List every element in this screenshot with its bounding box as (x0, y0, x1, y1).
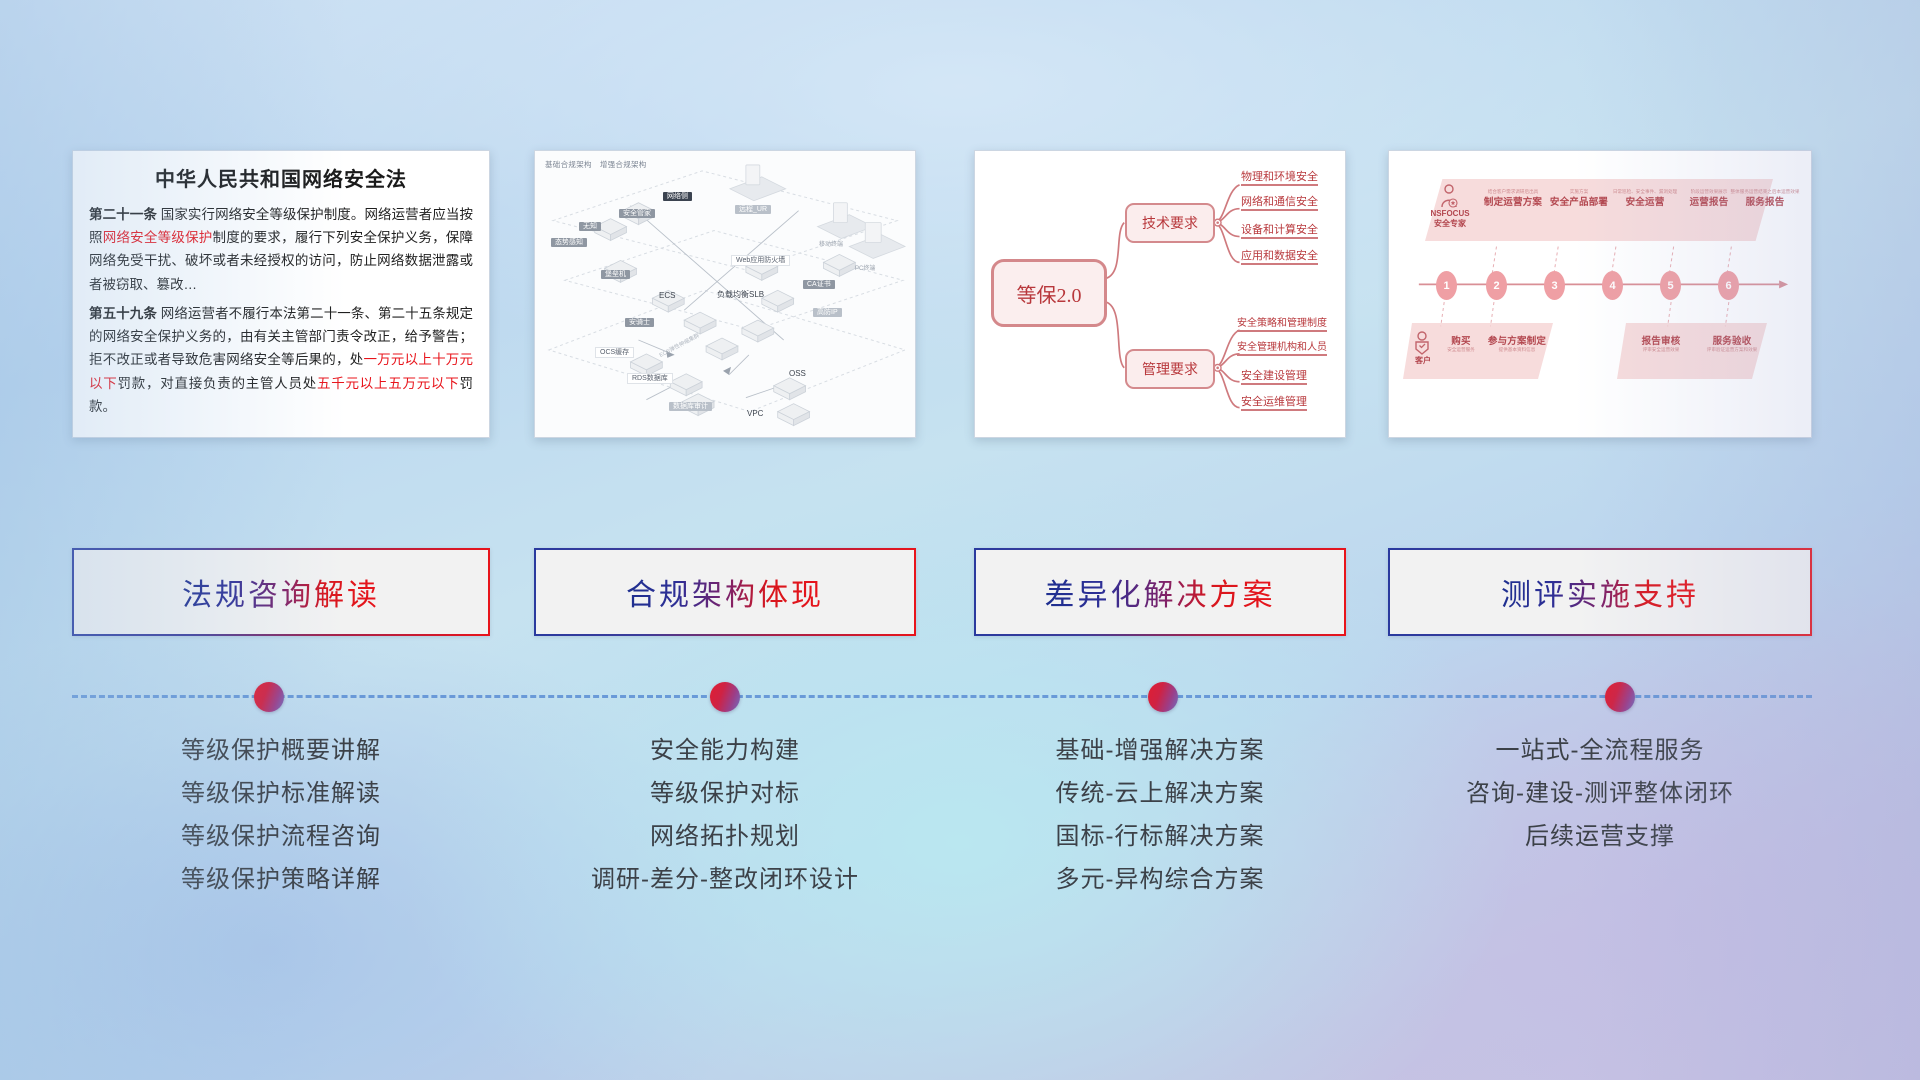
arch-node-remote-ur: 远程_UR (735, 204, 771, 214)
mindmap-leaf-org-personnel: 安全管理机构和人员 (1237, 342, 1327, 356)
arch-node-db-audit: 数据库审计 (669, 401, 712, 411)
arch-node-situational-awareness: 态势感知 (551, 237, 587, 247)
arch-node-waf: Web应用防火墙 (731, 255, 790, 265)
timeline-step-5[interactable]: 5 (1660, 271, 1681, 300)
mindmap-branch-management: 管理要求 (1125, 349, 1215, 389)
service-timeline-diagram: NSFOCUS 安全专家 结合客户需求调研后出具 制定运营方案 实施方案 安全产… (1389, 151, 1811, 437)
arch-node-oss: OSS (789, 369, 806, 378)
headline-box-regulation-consulting[interactable]: 法规咨询解读 (72, 548, 490, 636)
card-cybersecurity-law[interactable]: 中华人民共和国网络安全法 第二十一条 国家实行网络安全等级保护制度。网络运营者应… (72, 150, 490, 438)
timeline-step-4[interactable]: 4 (1602, 271, 1623, 300)
arch-node-rds-db: RDS数据库 (627, 373, 673, 383)
list-item: 一站式-全流程服务 (1388, 730, 1812, 773)
article-59-highlight-2: 五千元以上五万元以下 (317, 376, 460, 391)
detail-column-3: 基础-增强解决方案 传统-云上解决方案 国标-行标解决方案 多元-异构综合方案 (974, 730, 1346, 902)
law-title: 中华人民共和国网络安全法 (89, 163, 473, 192)
mindmap-leaf-network-comm: 网络和通信安全 (1241, 196, 1318, 211)
arch-node-mobile-terminal: 移动终端 (819, 239, 843, 248)
detail-columns: 等级保护概要讲解 等级保护标准解读 等级保护流程咨询 等级保护策略详解 安全能力… (0, 730, 1920, 1030)
mindmap-diagram: 等保2.0 技术要求 管理要求 物理和环境安全 网络和通信安全 设备和计算安全 … (975, 151, 1345, 437)
mindmap-leaf-physical-env: 物理和环境安全 (1241, 171, 1318, 186)
stage-bottom-report-review: 报告审核 评审安全运营效果 (1629, 333, 1693, 352)
list-item: 调研-差分-整改闭环设计 (534, 859, 916, 902)
arch-node-anqishi: 安骑士 (625, 317, 654, 327)
preview-card-row: 中华人民共和国网络安全法 第二十一条 国家实行网络安全等级保护制度。网络运营者应… (0, 150, 1920, 440)
headline-label-2: 合规架构体现 (626, 570, 824, 614)
list-item: 等级保护概要讲解 (72, 730, 490, 773)
list-item: 咨询-建设-测评整体闭环 (1388, 773, 1812, 816)
list-item: 等级保护策略详解 (72, 859, 490, 902)
headline-box-differentiated-solution[interactable]: 差异化解决方案 (974, 548, 1346, 636)
headline-label-3: 差异化解决方案 (1045, 570, 1276, 614)
mindmap-leaf-policy-system: 安全策略和管理制度 (1237, 318, 1327, 332)
timeline-step-1[interactable]: 1 (1436, 271, 1457, 300)
timeline-step-3[interactable]: 3 (1544, 271, 1565, 300)
headline-box-assessment-support[interactable]: 测评实施支持 (1388, 548, 1812, 636)
list-item: 安全能力构建 (534, 730, 916, 773)
timeline-dashed-line (72, 695, 1812, 698)
article-59-text-2: 罚款，对直接负责的主管人员处 (118, 376, 318, 391)
article-21-highlight: 网络安全等级保护 (103, 230, 213, 245)
detail-column-1: 等级保护概要讲解 等级保护标准解读 等级保护流程咨询 等级保护策略详解 (72, 730, 490, 902)
detail-column-4: 一站式-全流程服务 咨询-建设-测评整体闭环 后续运营支撑 (1388, 730, 1812, 859)
law-article-59: 第五十九条 网络运营者不履行本法第二十一条、第二十五条规定的网络安全保护义务的，… (89, 302, 473, 418)
headline-box-compliance-architecture[interactable]: 合规架构体现 (534, 548, 916, 636)
arrow-right-icon (1779, 280, 1788, 288)
arch-node-network-side: 网络侧 (663, 191, 692, 201)
list-item: 后续运营支撑 (1388, 816, 1812, 859)
list-item: 传统-云上解决方案 (974, 773, 1346, 816)
progress-timeline (0, 668, 1920, 724)
timeline-step-6[interactable]: 6 (1718, 271, 1739, 300)
timeline-marker-1[interactable] (254, 682, 284, 712)
card-mindmap-dengbao[interactable]: 等保2.0 技术要求 管理要求 物理和环境安全 网络和通信安全 设备和计算安全 … (974, 150, 1346, 438)
card-service-timeline[interactable]: NSFOCUS 安全专家 结合客户需求调研后出具 制定运营方案 实施方案 安全产… (1388, 150, 1812, 438)
arch-node-ecs: ECS (659, 291, 675, 300)
timeline-marker-2[interactable] (710, 682, 740, 712)
mindmap-leaf-construction-mgmt: 安全建设管理 (1241, 370, 1307, 385)
stage-bottom-acceptance: 服务验收 评审验证运营方案和效果 (1695, 333, 1769, 352)
list-item: 等级保护对标 (534, 773, 916, 816)
mindmap-leaf-app-data: 应用和数据安全 (1241, 250, 1318, 265)
timeline-marker-4[interactable] (1605, 682, 1635, 712)
slide-canvas: 中华人民共和国网络安全法 第二十一条 国家实行网络安全等级保护制度。网络运营者应… (0, 0, 1920, 1080)
article-59-label: 第五十九条 (89, 306, 157, 321)
stage-bottom-participate: 参与方案制定 提供基本资料信息 (1481, 333, 1553, 352)
list-item: 国标-行标解决方案 (974, 816, 1346, 859)
arch-node-slb: 负载均衡SLB (717, 289, 764, 300)
mindmap-root-node: 等保2.0 (991, 259, 1107, 327)
mindmap-branch-technical: 技术要求 (1125, 203, 1215, 243)
customer-role-label: 客户 (1409, 356, 1437, 366)
arch-node-ocs-cache: OCS缓存 (595, 347, 634, 357)
article-21-label: 第二十一条 (89, 207, 157, 222)
headline-label-1: 法规咨询解读 (182, 570, 380, 614)
stage-bottom-purchase: 购买 安全运营服务 (1435, 333, 1487, 352)
arch-node-security-steward: 安全管家 (619, 208, 655, 218)
person-check-icon (1413, 331, 1431, 355)
architecture-diagram: 基础合规架构 增强合规架构 (535, 151, 915, 437)
law-article-21: 第二十一条 国家实行网络安全等级保护制度。网络运营者应当按照网络安全等级保护制度… (89, 203, 473, 296)
arch-node-anti-ddos-ip: 高防IP (813, 307, 842, 317)
list-item: 多元-异构综合方案 (974, 859, 1346, 902)
timeline-marker-3[interactable] (1148, 682, 1178, 712)
arch-node-bastion-host: 堡垒机 (601, 269, 630, 279)
list-item: 等级保护流程咨询 (72, 816, 490, 859)
mindmap-leaf-operation-mgmt: 安全运维管理 (1241, 396, 1307, 411)
list-item: 基础-增强解决方案 (974, 730, 1346, 773)
headline-row: 法规咨询解读 合规架构体现 差异化解决方案 测评实施支持 (0, 548, 1920, 636)
headline-label-4: 测评实施支持 (1501, 570, 1699, 614)
timeline-step-2[interactable]: 2 (1486, 271, 1507, 300)
detail-column-2: 安全能力构建 等级保护对标 网络拓扑规划 调研-差分-整改闭环设计 (534, 730, 916, 902)
list-item: 网络拓扑规划 (534, 816, 916, 859)
arch-node-vpc: VPC (747, 409, 763, 418)
law-document: 中华人民共和国网络安全法 第二十一条 国家实行网络安全等级保护制度。网络运营者应… (73, 151, 489, 432)
mindmap-leaf-device-compute: 设备和计算安全 (1241, 224, 1318, 239)
card-compliance-architecture[interactable]: 基础合规架构 增强合规架构 (534, 150, 916, 438)
arch-node-perception: 无知 (579, 221, 601, 231)
arch-node-pc-terminal: PC终端 (855, 263, 875, 272)
arch-node-ca-cert: CA证书 (803, 279, 835, 289)
list-item: 等级保护标准解读 (72, 773, 490, 816)
